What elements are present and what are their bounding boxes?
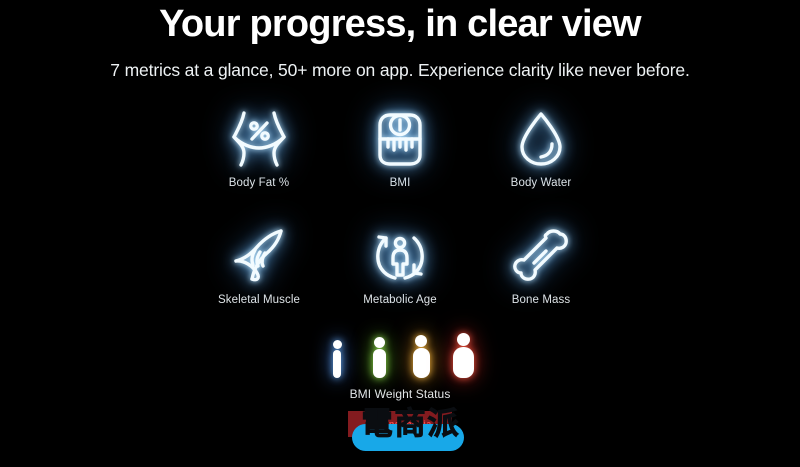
flexed-muscle-icon: [226, 225, 292, 287]
figure-head: [457, 333, 470, 346]
figure-body: [453, 347, 474, 378]
figure-body: [413, 348, 430, 378]
metric-body-water[interactable]: Body Water: [484, 108, 599, 189]
metric-metabolic-age[interactable]: Metabolic Age: [343, 225, 458, 306]
metric-label: Body Fat %: [229, 177, 289, 189]
page-subtitle: 7 metrics at a glance, 50+ more on app. …: [0, 58, 800, 82]
metric-label: Skeletal Muscle: [218, 294, 300, 306]
bmi-figure-underweight[interactable]: [316, 330, 358, 378]
figure-head: [374, 337, 385, 348]
water-droplet-icon: [508, 108, 574, 170]
bone-icon: [508, 225, 574, 287]
metric-label: Bone Mass: [512, 294, 570, 306]
figure-head: [333, 340, 342, 349]
watermark-band: [348, 411, 452, 437]
watermark-pill: [352, 424, 464, 451]
metrics-row-1: Body Fat % BMI: [0, 108, 800, 189]
metric-bmi[interactable]: BMI: [343, 108, 458, 189]
figure-head: [415, 335, 427, 347]
metric-body-fat[interactable]: Body Fat %: [202, 108, 317, 189]
figure-body: [333, 350, 341, 378]
metric-bone-mass[interactable]: Bone Mass: [484, 225, 599, 306]
bmi-weight-status-group: BMI Weight Status: [0, 330, 800, 401]
bmi-figure-normal[interactable]: [358, 330, 400, 378]
metric-label: BMI: [390, 177, 411, 189]
bmi-figure-obese[interactable]: [442, 330, 484, 378]
metric-skeletal-muscle[interactable]: Skeletal Muscle: [202, 225, 317, 306]
metrics-grid: Body Fat % BMI: [0, 108, 800, 306]
metric-label: Metabolic Age: [363, 294, 437, 306]
bmi-figure-overweight[interactable]: [400, 330, 442, 378]
page-title: Your progress, in clear view: [0, 2, 800, 46]
bathroom-scale-icon: [367, 108, 433, 170]
bmi-status-label: BMI Weight Status: [0, 387, 800, 401]
figure-body: [373, 349, 386, 378]
metric-label: Body Water: [511, 177, 572, 189]
watermark-band-text: Selling media: [348, 419, 452, 429]
bmi-figures-row: [0, 330, 800, 378]
metrics-row-2: Skeletal Muscle Metabolic Age: [0, 225, 800, 306]
person-refresh-cycle-icon: [367, 225, 433, 287]
waist-percent-icon: [226, 108, 292, 170]
promo-graphic: Your progress, in clear view 7 metrics a…: [0, 0, 800, 467]
watermark-cjk-text: 電商派: [346, 405, 476, 443]
